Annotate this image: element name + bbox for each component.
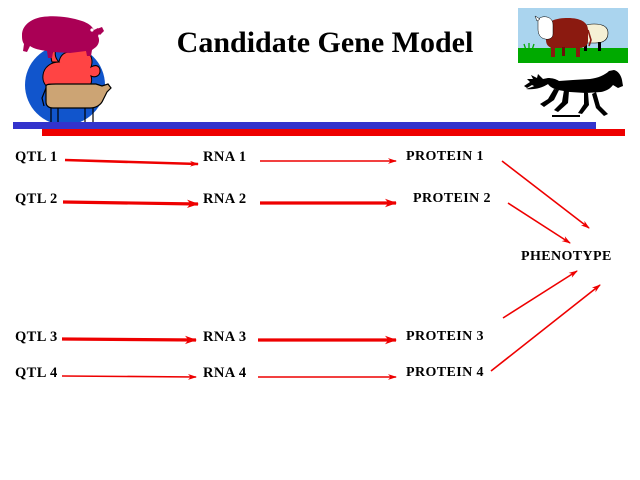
livestock-species-logo (8, 6, 120, 128)
horse-leg-rear2 (540, 89, 559, 107)
node-protein-2: PROTEIN 2 (413, 191, 491, 207)
arrow-protein2-phenotype (508, 203, 570, 243)
node-rna-1: RNA 1 (203, 149, 247, 166)
node-protein-3: PROTEIN 3 (406, 329, 484, 345)
horse-body (524, 70, 623, 93)
node-qtl-2: QTL 2 (15, 191, 58, 208)
cow-icon (46, 84, 111, 108)
node-phenotype: PHENOTYPE (521, 249, 612, 265)
slide-canvas: Candidate Gene Model QTL 1 QTL 2 QTL 3 (0, 0, 640, 480)
node-rna-4: RNA 4 (203, 365, 247, 382)
photo-grass (518, 48, 628, 63)
divider-bar-red (42, 129, 625, 136)
arrow-qtl1-rna1 (65, 160, 198, 164)
arrow-protein1-phenotype (502, 161, 589, 228)
arrow-qtl3-rna3 (62, 339, 196, 340)
arrow-protein4-phenotype (491, 285, 600, 371)
arrow-protein3-phenotype (503, 271, 577, 318)
galloping-horse-silhouette (518, 66, 630, 122)
pig-eye (90, 28, 93, 31)
cattle-and-sheep-photo (518, 8, 628, 63)
node-qtl-3: QTL 3 (15, 329, 58, 346)
cow-leg-1 (551, 47, 555, 57)
cow-leg-2 (576, 47, 580, 57)
cow-face (538, 17, 553, 40)
pig-icon (22, 16, 100, 58)
sheep-leg-2 (598, 42, 601, 51)
divider-bar-blue (13, 122, 596, 129)
node-protein-1: PROTEIN 1 (406, 149, 484, 165)
arrow-qtl4-rna4 (62, 376, 196, 377)
horse-leg-front2 (578, 92, 589, 114)
node-qtl-4: QTL 4 (15, 365, 58, 382)
node-protein-4: PROTEIN 4 (406, 365, 484, 381)
node-qtl-1: QTL 1 (15, 149, 58, 166)
node-rna-2: RNA 2 (203, 191, 247, 208)
arrow-qtl2-rna2 (63, 202, 198, 204)
cow-leg-3 (562, 47, 565, 56)
node-rna-3: RNA 3 (203, 329, 247, 346)
horse-hoof-dust (552, 115, 580, 117)
page-title: Candidate Gene Model (160, 26, 490, 60)
horse-leg-front (592, 92, 608, 116)
